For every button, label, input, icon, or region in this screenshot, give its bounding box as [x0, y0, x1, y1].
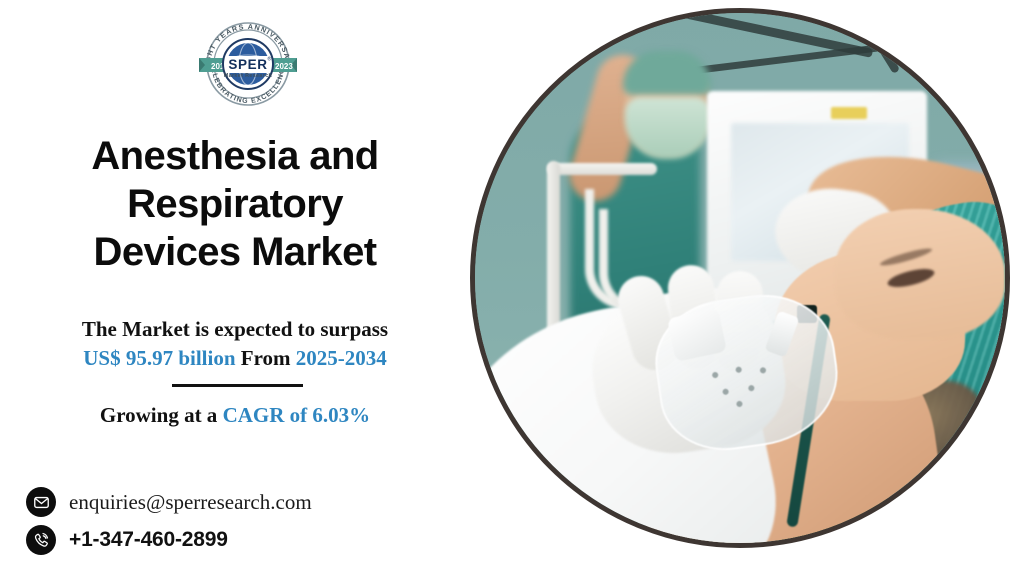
sper-logo: EIGHT YEARS ANNIVERSARY CELEBRATING EXCE…: [196, 12, 300, 114]
cagr-prefix-text: Growing at a: [100, 403, 217, 427]
stat-market-value: US$ 95.97 billion: [83, 346, 235, 370]
cagr-value: CAGR of 6.03%: [223, 403, 371, 427]
background-staff-cap: [623, 51, 711, 95]
iv-pole-arm: [547, 163, 657, 175]
hero-photo-circle: [470, 8, 1010, 548]
envelope-icon: [26, 487, 56, 517]
section-divider: [172, 384, 303, 387]
machine-label: [831, 107, 867, 119]
title-line-2: Respiratory: [127, 182, 343, 226]
logo-name: SPER: [228, 57, 267, 72]
page-title: Anesthesia and Respiratory Devices Marke…: [10, 132, 460, 276]
contact-phone-text[interactable]: +1-347-460-2899: [69, 528, 228, 552]
operating-room-scene: [475, 13, 1005, 543]
contact-email-text[interactable]: enquiries@sperresearch.com: [69, 490, 312, 515]
stat-intro-line: The Market is expected to surpass: [10, 315, 460, 344]
stat-value-line: US$ 95.97 billion From 2025-2034: [10, 344, 460, 373]
logo-year-to: 2023: [275, 62, 293, 71]
stat-connector: From: [241, 346, 291, 370]
contact-email-row[interactable]: enquiries@sperresearch.com: [26, 487, 312, 517]
stat-forecast-period: 2025-2034: [296, 346, 387, 370]
title-line-3: Devices Market: [94, 230, 377, 274]
title-line-1: Anesthesia and: [91, 134, 378, 178]
stat-intro-text: The Market is expected to surpass: [82, 317, 388, 341]
logo-registered-mark: ®: [268, 56, 272, 63]
contact-phone-row[interactable]: +1-347-460-2899: [26, 525, 228, 555]
market-stat-block: The Market is expected to surpass US$ 95…: [10, 315, 460, 373]
phone-ring-icon: [26, 525, 56, 555]
cagr-line: Growing at a CAGR of 6.03%: [10, 401, 460, 430]
logo-tagline: Market Research: [224, 73, 272, 79]
left-content-panel: EIGHT YEARS ANNIVERSARY CELEBRATING EXCE…: [0, 0, 470, 577]
sper-logo-icon: EIGHT YEARS ANNIVERSARY CELEBRATING EXCE…: [196, 12, 300, 114]
